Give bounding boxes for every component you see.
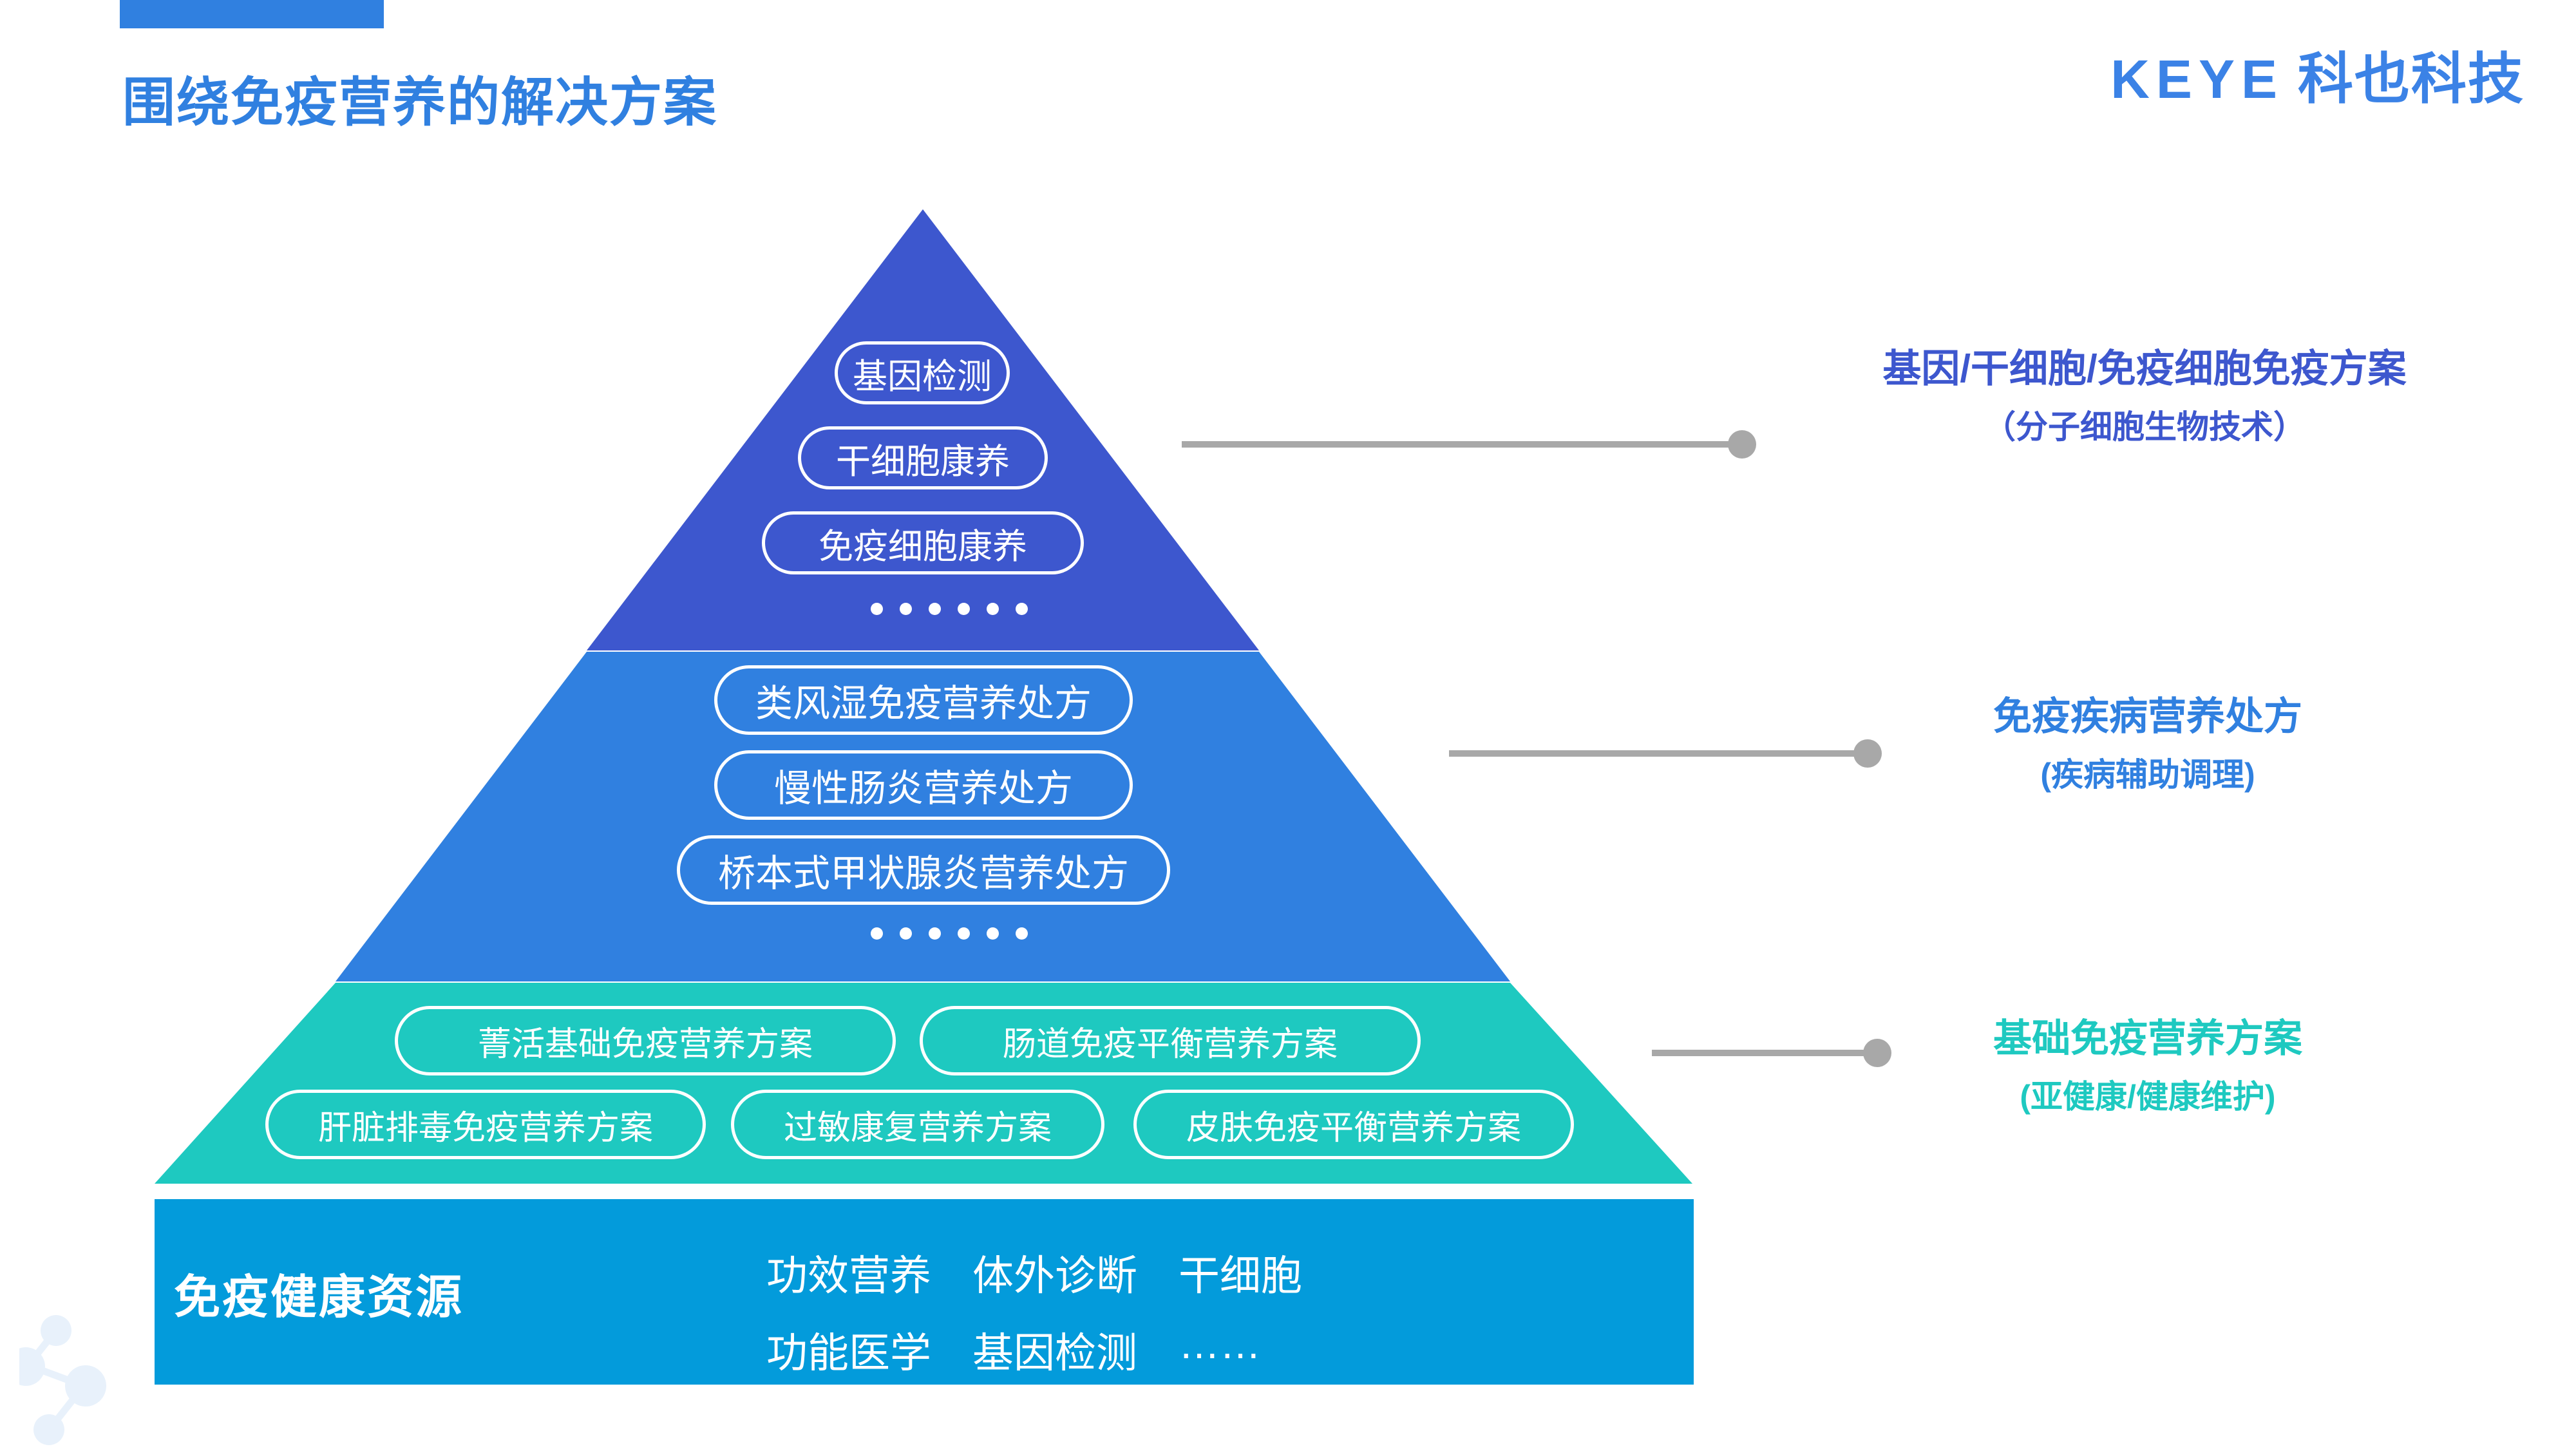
connector-dot-basic (1863, 1039, 1891, 1067)
logo-wordmark: KEYE (2110, 52, 2284, 106)
resource-item: 基因检测 (972, 1320, 1179, 1379)
connector-line-genetic (1182, 441, 1742, 448)
resource-base-title: 免疫健康资源 (174, 1259, 464, 1327)
logo-company-name: 科也科技 (2298, 52, 2524, 107)
pill-basic-1[interactable]: 菁活基础免疫营养方案 (395, 1006, 896, 1075)
pill-basic-3[interactable]: 肝脏排毒免疫营养方案 (265, 1090, 706, 1159)
pill-basic-5[interactable]: 皮肤免疫平衡营养方案 (1133, 1090, 1574, 1159)
pill-disease-2[interactable]: 慢性肠炎营养处方 (714, 750, 1133, 820)
ellipsis-dots-disease (871, 927, 1028, 940)
annotation-basic-title: 基础免疫营养方案 (1890, 1014, 2405, 1063)
annotation-basic: 基础免疫营养方案 (亚健康/健康维护) (1890, 1014, 2405, 1117)
resource-item: …… (1179, 1320, 1372, 1379)
pill-disease-1[interactable]: 类风湿免疫营养处方 (714, 665, 1133, 735)
annotation-genetic-title: 基因/干细胞/免疫细胞免疫方案 (1774, 345, 2515, 393)
connector-dot-disease (1853, 739, 1882, 768)
annotation-genetic-subtitle: （分子细胞生物技术） (1774, 407, 2515, 448)
resource-list: 功效营养 体外诊断 干细胞 功能医学 基因检测 …… (766, 1243, 1372, 1379)
page-title: 围绕免疫营养的解决方案 (122, 59, 717, 136)
pill-genetic-2[interactable]: 干细胞康养 (798, 426, 1048, 489)
resource-item: 功能医学 (766, 1320, 972, 1379)
connector-line-disease (1449, 750, 1868, 757)
resource-item: 干细胞 (1179, 1243, 1372, 1302)
pill-basic-4[interactable]: 过敏康复营养方案 (731, 1090, 1104, 1159)
annotation-basic-subtitle: (亚健康/健康维护) (1890, 1077, 2405, 1117)
annotation-disease-title: 免疫疾病营养处方 (1890, 692, 2405, 741)
resource-item: 功效营养 (766, 1243, 972, 1302)
connector-dot-genetic (1728, 430, 1756, 459)
molecule-decoration-icon (19, 1314, 174, 1449)
connector-line-basic (1652, 1050, 1877, 1056)
resource-item: 体外诊断 (972, 1243, 1179, 1302)
title-accent-bar (120, 0, 384, 28)
pill-genetic-3[interactable]: 免疫细胞康养 (762, 511, 1084, 574)
pill-genetic-1[interactable]: 基因检测 (835, 341, 1010, 404)
pill-basic-2[interactable]: 肠道免疫平衡营养方案 (920, 1006, 1421, 1075)
annotation-genetic: 基因/干细胞/免疫细胞免疫方案 （分子细胞生物技术） (1774, 345, 2515, 448)
slide-canvas: 围绕免疫营养的解决方案 KEYE 科也科技 基因检测 干细胞康养 免疫细胞康养 … (0, 0, 2576, 1449)
brand-logo: KEYE 科也科技 (2110, 52, 2524, 107)
pill-disease-3[interactable]: 桥本式甲状腺炎营养处方 (677, 835, 1170, 905)
ellipsis-dots-genetic (871, 603, 1028, 615)
annotation-disease: 免疫疾病营养处方 (疾病辅助调理) (1890, 692, 2405, 795)
annotation-disease-subtitle: (疾病辅助调理) (1890, 755, 2405, 795)
